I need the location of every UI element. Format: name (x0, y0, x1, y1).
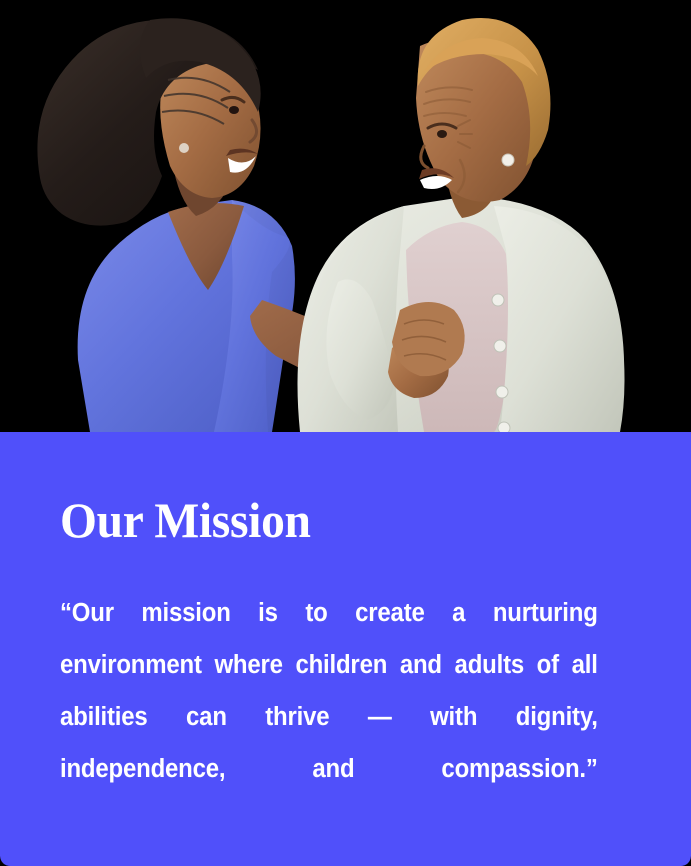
mission-card: Our Mission “Our mission is to create a … (0, 0, 691, 866)
caregiver-and-elderly-woman-photo (0, 0, 691, 432)
page-title: Our Mission (60, 493, 311, 547)
mission-panel: Our Mission “Our mission is to create a … (0, 432, 691, 866)
mission-photo (0, 0, 691, 432)
mission-quote-text: “Our mission is to create a nurturing en… (60, 587, 598, 847)
